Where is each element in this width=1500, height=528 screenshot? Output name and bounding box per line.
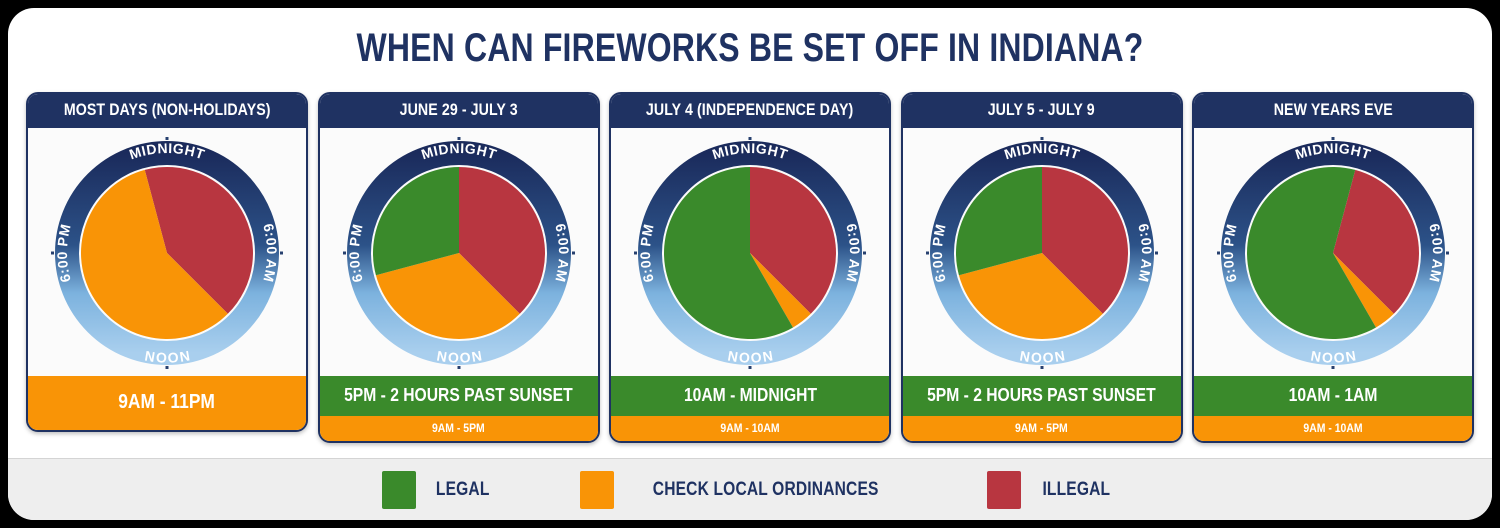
card-body: MIDNIGHTNOON6:00 AM6:00 PM <box>611 128 889 376</box>
card-header-label: JULY 4 (INDEPENDENCE DAY) <box>646 101 853 120</box>
card-header: MOST DAYS (NON-HOLIDAYS) <box>28 94 306 128</box>
legend-label: CHECK LOCAL ORDINANCES <box>628 479 903 501</box>
card-footers: 10AM - 1AM9AM - 10AM <box>1194 376 1472 441</box>
legend-label-text: CHECK LOCAL ORDINANCES <box>652 479 878 501</box>
footer-secondary-label: 9AM - 10AM <box>720 421 779 435</box>
footer-primary-time: 5PM - 2 HOURS PAST SUNSET <box>903 376 1181 416</box>
card-header: NEW YEARS EVE <box>1194 94 1472 128</box>
schedule-card[interactable]: JUNE 29 - JULY 3MIDNIGHTNOON6:00 AM6:00 … <box>318 92 600 443</box>
infographic-panel: WHEN CAN FIREWORKS BE SET OFF IN INDIANA… <box>8 8 1492 520</box>
footer-secondary-time: 9AM - 10AM <box>1194 416 1472 441</box>
card-header: JULY 4 (INDEPENDENCE DAY) <box>611 94 889 128</box>
card-body: MIDNIGHTNOON6:00 AM6:00 PM <box>320 128 598 376</box>
legend-item: LEGAL <box>382 471 495 509</box>
footer-primary-time: 9AM - 11PM <box>28 376 306 430</box>
card-body: MIDNIGHTNOON6:00 AM6:00 PM <box>28 128 306 376</box>
footer-secondary-label: 9AM - 5PM <box>432 421 485 435</box>
schedule-card[interactable]: JULY 5 - JULY 9MIDNIGHTNOON6:00 AM6:00 P… <box>901 92 1183 443</box>
card-header: JULY 5 - JULY 9 <box>903 94 1181 128</box>
card-footers: 5PM - 2 HOURS PAST SUNSET9AM - 5PM <box>320 376 598 441</box>
footer-primary-time: 10AM - 1AM <box>1194 376 1472 416</box>
card-header: JUNE 29 - JULY 3 <box>320 94 598 128</box>
legend: LEGALCHECK LOCAL ORDINANCESILLEGAL <box>8 458 1492 520</box>
card-header-label: MOST DAYS (NON-HOLIDAYS) <box>64 101 271 120</box>
card-footers: 5PM - 2 HOURS PAST SUNSET9AM - 5PM <box>903 376 1181 441</box>
footer-secondary-time: 9AM - 5PM <box>903 416 1181 441</box>
schedule-card[interactable]: NEW YEARS EVEMIDNIGHTNOON6:00 AM6:00 PM1… <box>1192 92 1474 443</box>
legend-item: CHECK LOCAL ORDINANCES <box>580 471 903 509</box>
legend-swatch-icon <box>987 471 1021 509</box>
footer-primary-label: 5PM - 2 HOURS PAST SUNSET <box>927 385 1156 406</box>
clock-dial: MIDNIGHTNOON6:00 AM6:00 PM <box>343 137 575 369</box>
card-body: MIDNIGHTNOON6:00 AM6:00 PM <box>1194 128 1472 376</box>
footer-primary-time: 10AM - MIDNIGHT <box>611 376 889 416</box>
footer-secondary-time: 9AM - 5PM <box>320 416 598 441</box>
legend-label: LEGAL <box>430 479 495 501</box>
legend-item: ILLEGAL <box>987 471 1118 509</box>
clock-dial: MIDNIGHTNOON6:00 AM6:00 PM <box>51 137 283 369</box>
footer-primary-label: 5PM - 2 HOURS PAST SUNSET <box>344 385 573 406</box>
legend-swatch-icon <box>382 471 416 509</box>
card-footers: 10AM - MIDNIGHT9AM - 10AM <box>611 376 889 441</box>
clock-dial: MIDNIGHTNOON6:00 AM6:00 PM <box>634 137 866 369</box>
footer-primary-label: 10AM - 1AM <box>1289 385 1378 406</box>
schedule-card[interactable]: JULY 4 (INDEPENDENCE DAY)MIDNIGHTNOON6:0… <box>609 92 891 443</box>
footer-secondary-time: 9AM - 10AM <box>611 416 889 441</box>
card-header-label: NEW YEARS EVE <box>1273 101 1392 120</box>
schedule-card[interactable]: MOST DAYS (NON-HOLIDAYS)MIDNIGHTNOON6:00… <box>26 92 308 432</box>
legend-swatch-icon <box>580 471 614 509</box>
footer-primary-time: 5PM - 2 HOURS PAST SUNSET <box>320 376 598 416</box>
footer-secondary-label: 9AM - 10AM <box>1303 421 1362 435</box>
card-body: MIDNIGHTNOON6:00 AM6:00 PM <box>903 128 1181 376</box>
card-footers: 9AM - 11PM <box>28 376 306 430</box>
cards-row: MOST DAYS (NON-HOLIDAYS)MIDNIGHTNOON6:00… <box>26 92 1474 456</box>
clock-dial: MIDNIGHTNOON6:00 AM6:00 PM <box>926 137 1158 369</box>
legend-label: ILLEGAL <box>1035 479 1118 501</box>
legend-label-text: ILLEGAL <box>1042 479 1110 501</box>
fireworks-infographic: WHEN CAN FIREWORKS BE SET OFF IN INDIANA… <box>0 0 1500 528</box>
footer-primary-label: 9AM - 11PM <box>119 391 216 414</box>
page-title: WHEN CAN FIREWORKS BE SET OFF IN INDIANA… <box>156 26 1343 71</box>
clock-dial: MIDNIGHTNOON6:00 AM6:00 PM <box>1217 137 1449 369</box>
card-header-label: JULY 5 - JULY 9 <box>988 101 1095 120</box>
footer-primary-label: 10AM - MIDNIGHT <box>683 385 816 406</box>
legend-label-text: LEGAL <box>436 479 490 501</box>
card-header-label: JUNE 29 - JULY 3 <box>399 101 517 120</box>
footer-secondary-label: 9AM - 5PM <box>1015 421 1068 435</box>
